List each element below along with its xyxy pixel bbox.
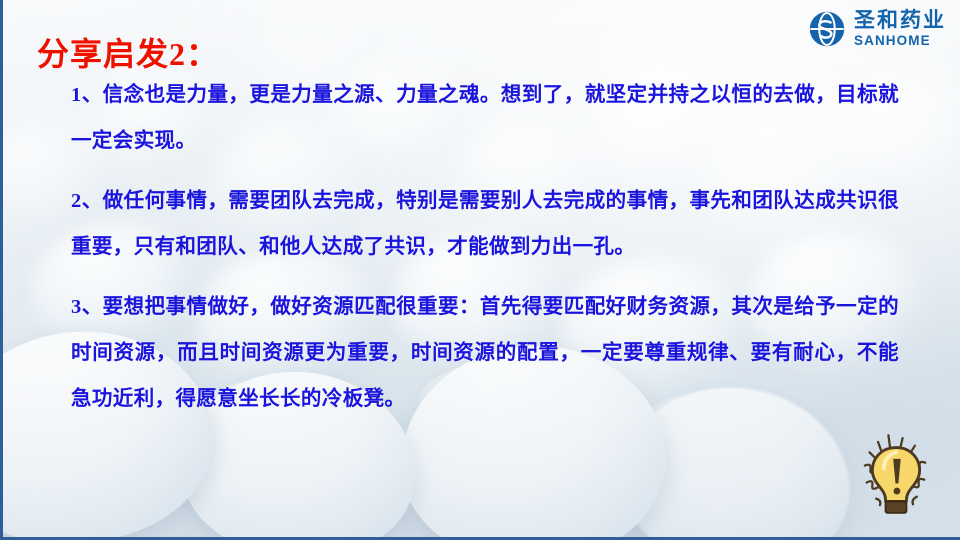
body-paragraph-2: 2、做任何事情，需要团队去完成，特别是需要别人去完成的事情，事先和团队达成共识很…	[71, 178, 899, 270]
body-paragraph-1: 1、信念也是力量，更是力量之源、力量之魂。想到了，就坚定并持之以恒的去做，目标就…	[71, 72, 899, 164]
company-logo: 圣和药业 SANHOME	[808, 10, 946, 48]
logo-chinese-name: 圣和药业	[854, 10, 946, 31]
logo-english-name: SANHOME	[854, 34, 946, 48]
body-paragraph-3: 3、要想把事情做好，做好资源匹配很重要：首先得要匹配好财务资源，其次是给予一定的…	[71, 284, 899, 422]
presentation-slide: 圣和药业 SANHOME 分享启发2： 1、信念也是力量，更是力量之源、力量之魂…	[0, 0, 960, 540]
logo-wordmark: 圣和药业 SANHOME	[854, 10, 946, 48]
slide-title: 分享启发2：	[37, 35, 219, 73]
sanhome-emblem-icon	[808, 10, 846, 48]
bulb-base	[886, 501, 907, 512]
lightbulb-exclamation-icon	[844, 423, 948, 527]
slide-body: 1、信念也是力量，更是力量之源、力量之魂。想到了，就坚定并持之以恒的去做，目标就…	[71, 72, 899, 422]
